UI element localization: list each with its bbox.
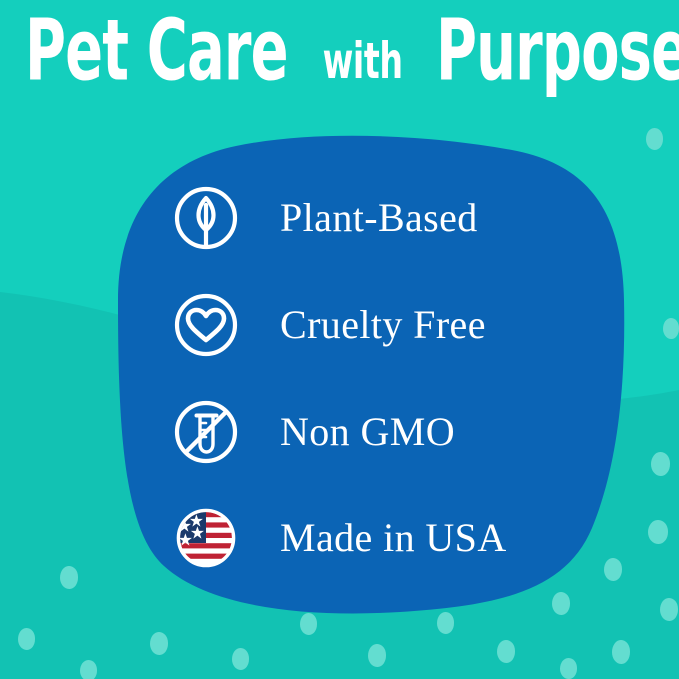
feature-row-made-in-usa: Made in USA (173, 505, 507, 571)
feature-label-made-in-usa: Made in USA (280, 516, 507, 560)
feature-row-plant-based: Plant-Based (173, 185, 478, 251)
no-gmo-icon (173, 399, 239, 465)
usa-flag-icon (173, 505, 239, 571)
feature-label-cruelty-free: Cruelty Free (280, 303, 486, 347)
feature-row-cruelty-free: Cruelty Free (173, 292, 486, 358)
leaf-icon (173, 185, 239, 251)
feature-list: Plant-Based Cruelty Free (0, 0, 679, 679)
feature-label-plant-based: Plant-Based (280, 196, 478, 240)
feature-label-non-gmo: Non GMO (280, 410, 455, 454)
feature-row-non-gmo: Non GMO (173, 399, 455, 465)
heart-icon (173, 292, 239, 358)
infographic-canvas: Pet CarewithPurpose® Plant-Based (0, 0, 679, 679)
